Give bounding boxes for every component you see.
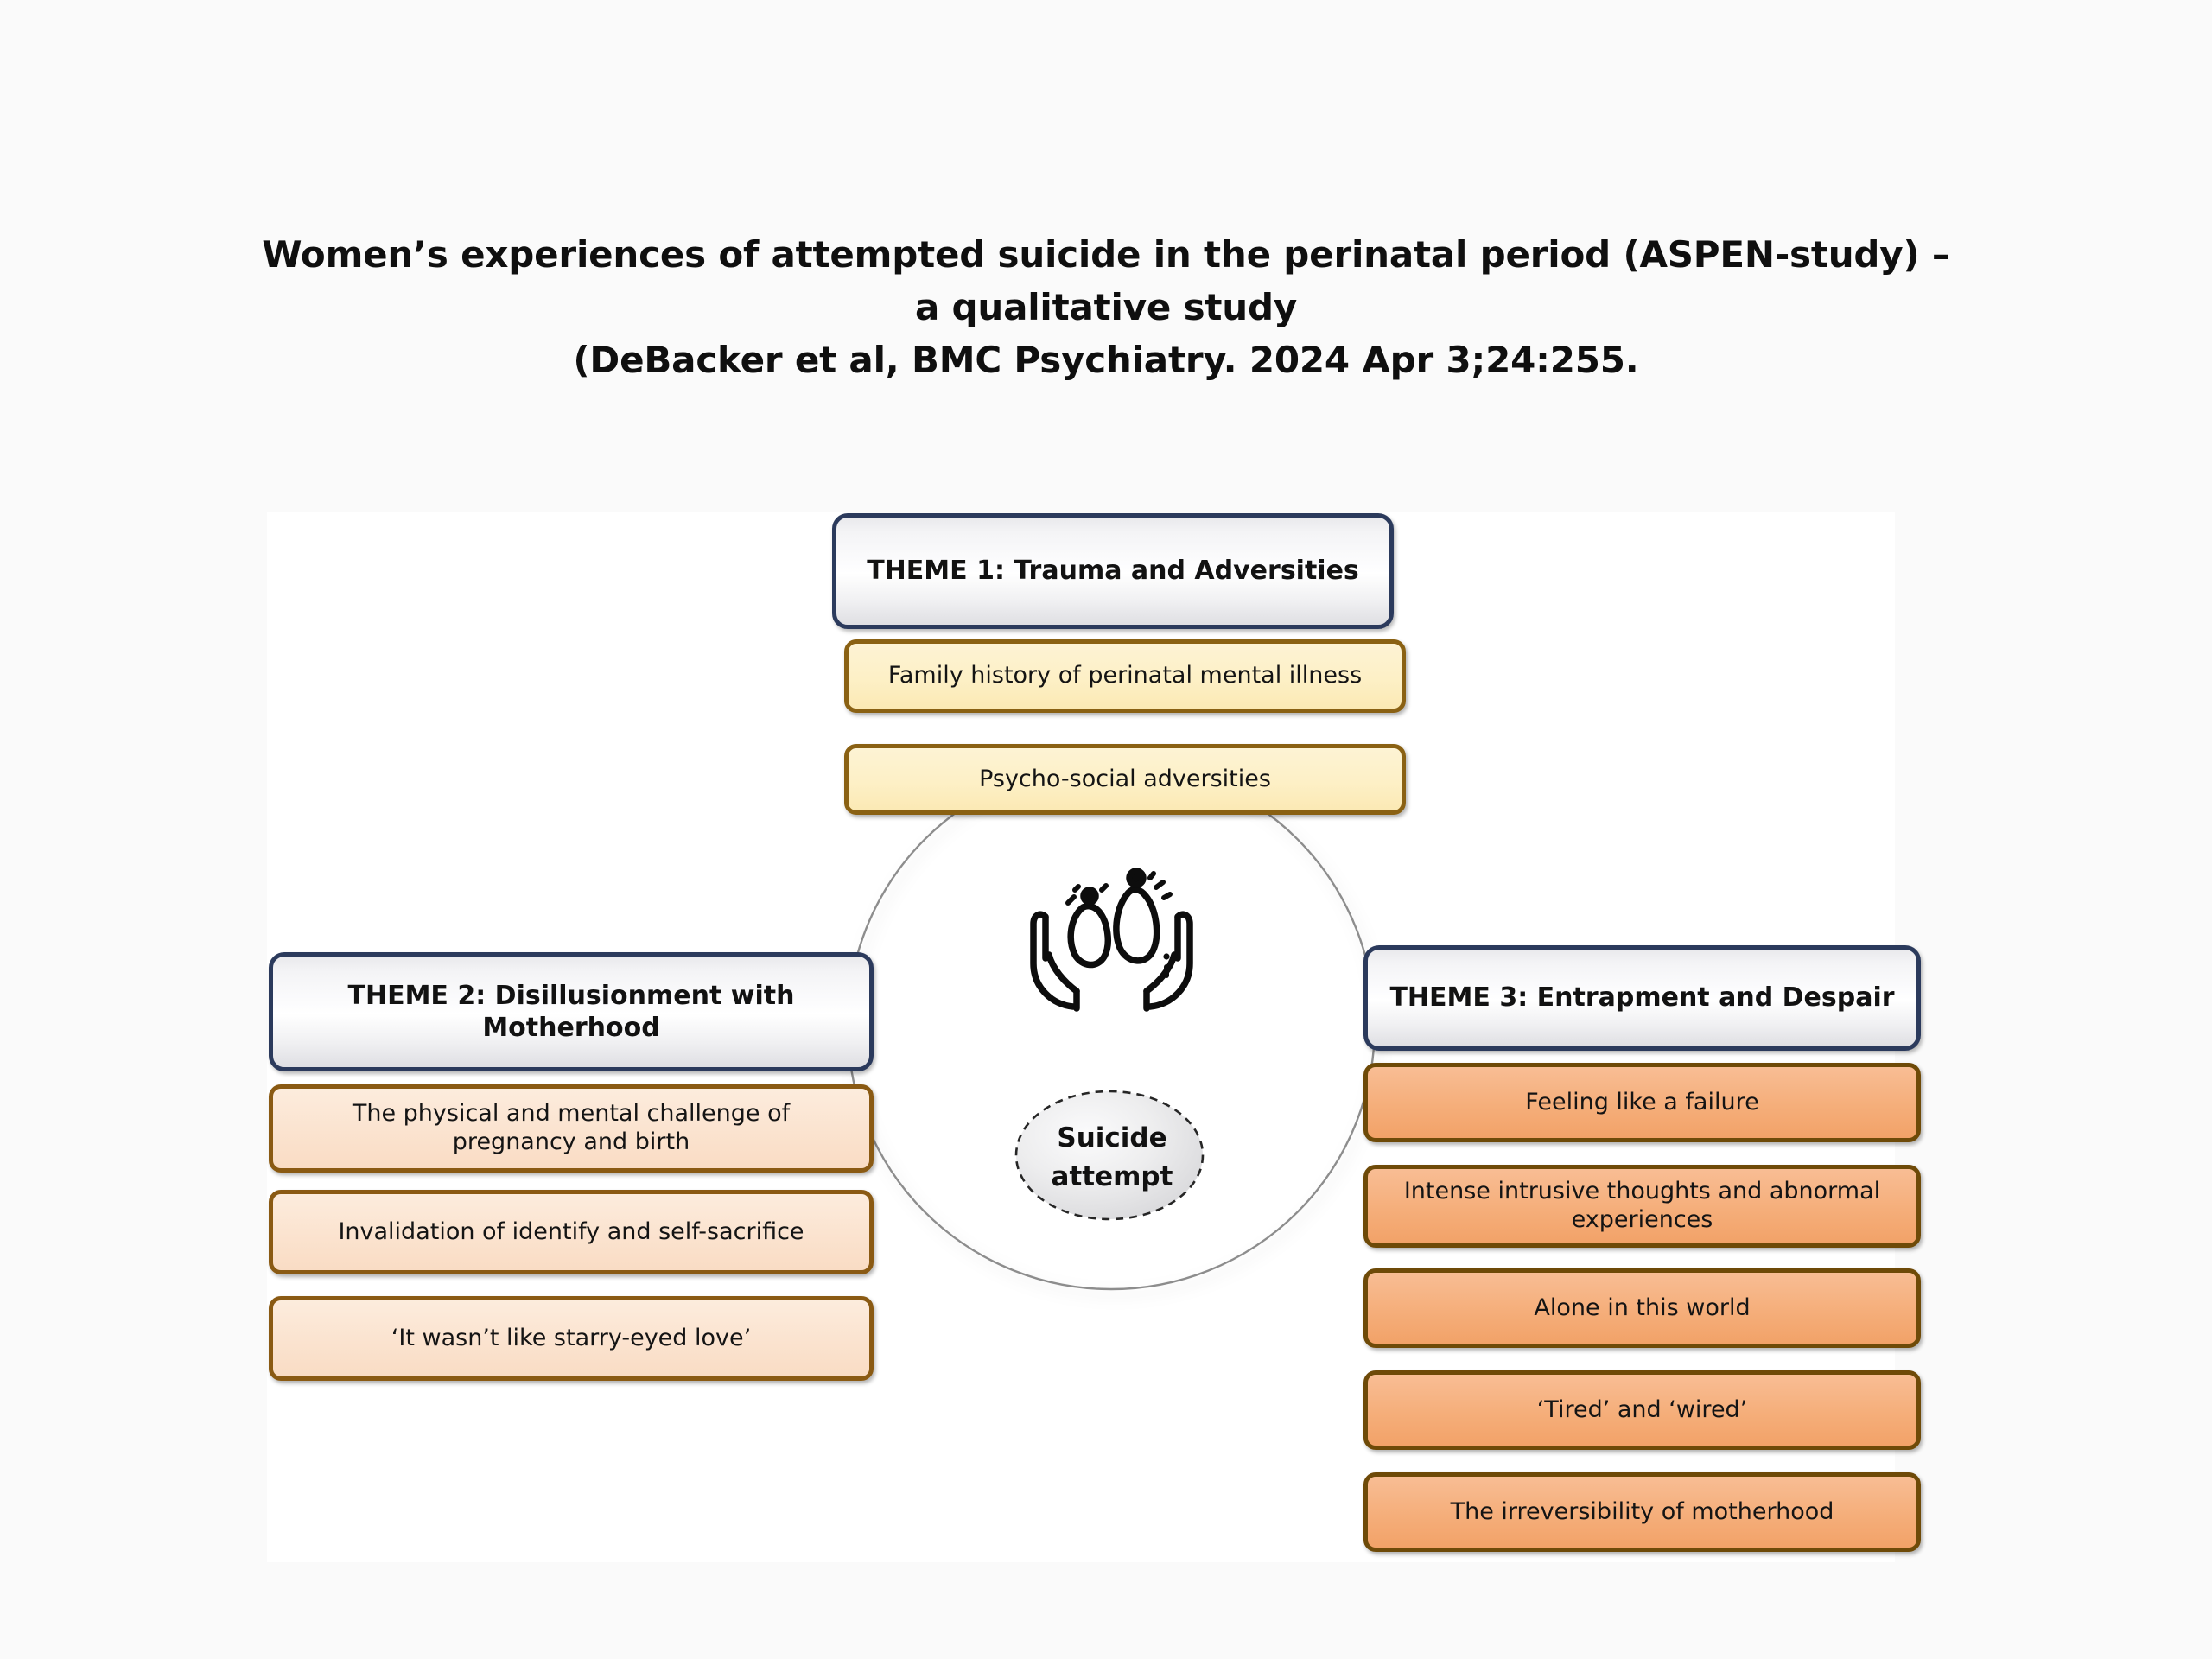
theme-3-subtheme-1[interactable]: Feeling like a failure <box>1363 1063 1921 1142</box>
theme-3-subtheme-5[interactable]: The irreversibility of motherhood <box>1363 1472 1921 1552</box>
theme-3-subtheme-2-label: Intense intrusive thoughts and abnormal … <box>1383 1178 1901 1235</box>
theme-3-subtheme-3[interactable]: Alone in this world <box>1363 1268 1921 1348</box>
diagram-canvas: Suicide attempt THEME 1: Trauma and Adve… <box>267 512 1895 1562</box>
theme-2-subtheme-1[interactable]: The physical and mental challenge of pre… <box>269 1084 874 1173</box>
theme-3-header[interactable]: THEME 3: Entrapment and Despair <box>1363 945 1921 1051</box>
theme-3-header-label: THEME 3: Entrapment and Despair <box>1389 982 1894 1014</box>
theme-1-subtheme-2[interactable]: Psycho-social adversities <box>844 744 1406 815</box>
theme-2-subtheme-2-label: Invalidation of identify and self-sacrif… <box>338 1218 804 1247</box>
theme-3-subtheme-2[interactable]: Intense intrusive thoughts and abnormal … <box>1363 1165 1921 1248</box>
theme-1-subtheme-1[interactable]: Family history of perinatal mental illne… <box>844 639 1406 713</box>
theme-2-subtheme-2[interactable]: Invalidation of identify and self-sacrif… <box>269 1190 874 1274</box>
theme-2-subtheme-3-label: ‘It wasn’t like starry-eyed love’ <box>391 1325 751 1353</box>
hands-holding-baby-feet-icon <box>1023 861 1200 1013</box>
theme-2-header-label: THEME 2: Disillusionment with Motherhood <box>287 980 855 1045</box>
title-line-1: Women’s experiences of attempted suicide… <box>0 229 2212 282</box>
theme-3-subtheme-1-label: Feeling like a failure <box>1525 1089 1758 1117</box>
title-line-3: (DeBacker et al, BMC Psychiatry. 2024 Ap… <box>0 334 2212 387</box>
theme-2-subtheme-1-label: The physical and mental challenge of pre… <box>289 1100 854 1157</box>
theme-1-subtheme-1-label: Family history of perinatal mental illne… <box>888 662 1362 690</box>
theme-3-subtheme-5-label: The irreversibility of motherhood <box>1451 1498 1834 1527</box>
theme-1-header-label: THEME 1: Trauma and Adversities <box>867 555 1359 588</box>
theme-3-subtheme-3-label: Alone in this world <box>1534 1294 1750 1323</box>
theme-1-header[interactable]: THEME 1: Trauma and Adversities <box>832 513 1394 629</box>
page-title: Women’s experiences of attempted suicide… <box>0 229 2212 387</box>
theme-3-subtheme-4-label: ‘Tired’ and ‘wired’ <box>1537 1396 1748 1425</box>
theme-1-subtheme-2-label: Psycho-social adversities <box>979 766 1271 794</box>
theme-2-subtheme-3[interactable]: ‘It wasn’t like starry-eyed love’ <box>269 1296 874 1381</box>
theme-2-header[interactable]: THEME 2: Disillusionment with Motherhood <box>269 952 874 1071</box>
title-line-2: a qualitative study <box>0 282 2212 334</box>
suicide-attempt-node: Suicide attempt <box>1008 1084 1216 1231</box>
theme-3-subtheme-4[interactable]: ‘Tired’ and ‘wired’ <box>1363 1370 1921 1450</box>
